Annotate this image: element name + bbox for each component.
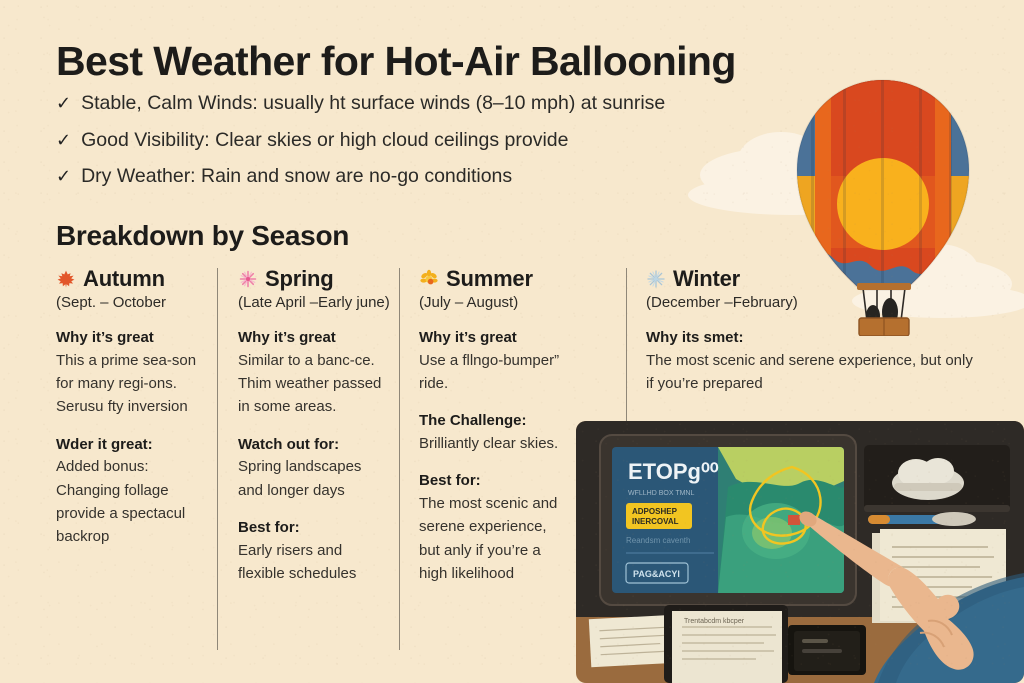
page-title: Best Weather for Hot-Air Ballooning <box>56 38 736 85</box>
block-label: The Challenge: <box>419 410 567 432</box>
list-item: ✓ Stable, Calm Winds: usually ht surface… <box>56 94 665 114</box>
season-block: Why it’s great Use a fllngo-bumper” ride… <box>419 327 567 395</box>
season-column-autumn: Autumn (Sept. – October Why it’s great T… <box>56 266 206 563</box>
check-icon: ✓ <box>56 131 71 149</box>
column-divider <box>399 268 400 650</box>
block-body: Brilliantly clear skies. <box>419 432 567 455</box>
block-label: Wder it great: <box>56 434 206 456</box>
season-date-range: (Late April –Early june) <box>238 294 386 311</box>
season-header: Autumn <box>56 266 206 292</box>
season-header: Winter <box>646 266 976 292</box>
season-block: Wder it great: Added bonus: Changing fol… <box>56 434 206 549</box>
section-heading: Breakdown by Season <box>56 220 349 252</box>
list-item-text: Good Visibility: Clear skies or high clo… <box>81 131 568 151</box>
check-icon: ✓ <box>56 167 71 185</box>
season-block: Best for: Early risers and flexible sche… <box>238 517 386 585</box>
maple-leaf-icon <box>56 269 76 289</box>
block-label: Best for: <box>238 517 386 539</box>
season-name: Spring <box>265 266 333 292</box>
season-name: Winter <box>673 266 740 292</box>
season-block: Watch out for: Spring landscapes and lon… <box>238 434 386 502</box>
screen-badge-line2: INERCOVAL <box>632 517 679 526</box>
season-column-spring: Spring (Late April –Early june) Why it’s… <box>238 266 386 600</box>
block-label: Why it’s great <box>56 327 206 349</box>
block-body: Spring landscapes and longer days <box>238 455 386 502</box>
season-block: Why it’s great Similar to a banc-ce. Thi… <box>238 327 386 419</box>
check-icon: ✓ <box>56 94 71 112</box>
season-block: Why it’s great This a prime sea-son for … <box>56 327 206 419</box>
poster-canvas: Best Weather for Hot-Air Ballooning ✓ St… <box>0 0 1024 683</box>
block-label: Best for: <box>419 470 567 492</box>
season-date-range: (December –February) <box>646 294 976 311</box>
screen-heading-text: ETOPg⁰⁰ <box>628 459 719 484</box>
sun-flower-icon <box>419 269 439 289</box>
screen-subheading-text: WFLLHD BOX TMNL <box>628 490 694 497</box>
block-body: Early risers and flexible schedules <box>238 539 386 586</box>
block-body: The most scenic and serene experience, b… <box>646 349 976 396</box>
season-block: The Challenge: Brilliantly clear skies. <box>419 410 567 455</box>
column-divider <box>626 268 627 436</box>
svg-text:Trentabcdm kbcper: Trentabcdm kbcper <box>684 618 745 625</box>
snowflake-icon <box>646 269 666 289</box>
season-block: Why its smet: The most scenic and serene… <box>646 327 976 395</box>
block-label: Why it’s great <box>238 327 386 349</box>
key-conditions-list: ✓ Stable, Calm Winds: usually ht surface… <box>56 94 665 204</box>
season-header: Summer <box>419 266 567 292</box>
season-name: Summer <box>446 266 533 292</box>
list-item: ✓ Dry Weather: Rain and snow are no-go c… <box>56 167 665 187</box>
season-name: Autumn <box>83 266 165 292</box>
list-item: ✓ Good Visibility: Clear skies or high c… <box>56 131 665 151</box>
laptop-weather-map-illustration: ETOPg⁰⁰ WFLLHD BOX TMNL ADPOSHEP INERCOV… <box>576 421 1024 683</box>
season-header: Spring <box>238 266 386 292</box>
block-body: The most scenic and serene experience, b… <box>419 492 567 585</box>
block-label: Why its smet: <box>646 327 976 349</box>
list-item-text: Dry Weather: Rain and snow are no-go con… <box>81 167 512 187</box>
screen-button-label: PAG&ACYl <box>633 569 680 579</box>
block-body: This a prime sea-son for many regi-ons. … <box>56 349 206 419</box>
block-body: Added bonus: Changing follage provide a … <box>56 455 206 548</box>
blossom-icon <box>238 269 258 289</box>
season-column-winter: Winter (December –February) Why its smet… <box>646 266 976 410</box>
screen-badge-line1: ADPOSHEP <box>632 507 678 516</box>
screen-faint-line: Reandsm caventh <box>626 536 690 545</box>
season-date-range: (July – August) <box>419 294 567 311</box>
block-body: Use a fllngo-bumper” ride. <box>419 349 567 396</box>
list-item-text: Stable, Calm Winds: usually ht surface w… <box>81 94 665 114</box>
season-column-summer: Summer (July – August) Why it’s great Us… <box>419 266 567 600</box>
season-date-range: (Sept. – October <box>56 294 206 311</box>
block-label: Why it’s great <box>419 327 567 349</box>
block-body: Similar to a banc-ce. Thim weather passe… <box>238 349 386 419</box>
column-divider <box>217 268 218 650</box>
block-label: Watch out for: <box>238 434 386 456</box>
season-block: Best for: The most scenic and serene exp… <box>419 470 567 585</box>
